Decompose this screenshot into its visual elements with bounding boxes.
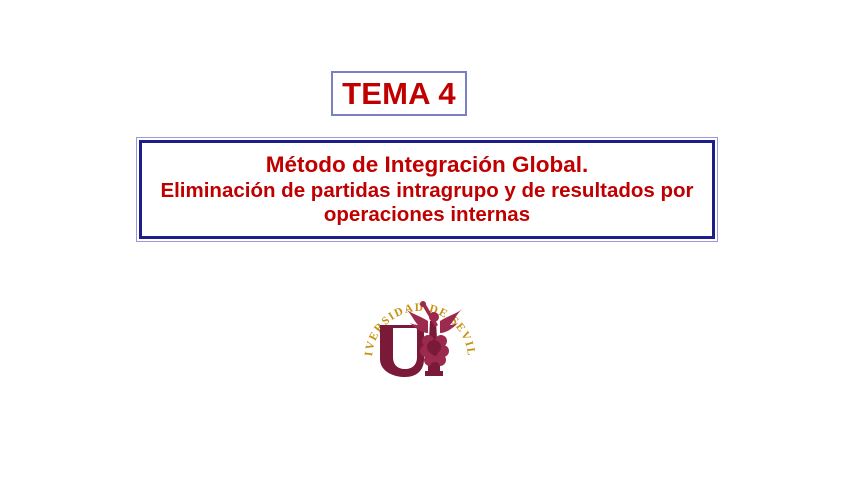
slide-title-line-2: Eliminación de partidas intragrupo y de … [160, 179, 693, 203]
slide-canvas: TEMA 4 Método de Integración Global. Eli… [0, 0, 848, 477]
slide-title-line-3: operaciones internas [324, 203, 530, 227]
chapter-number-label: TEMA 4 [342, 78, 456, 109]
slide-title-line-1: Método de Integración Global. [266, 152, 589, 178]
logo-graphic: UNIVERSIDAD DE SEVILLA [362, 281, 478, 387]
universidad-de-sevilla-logo: UNIVERSIDAD DE SEVILLA [362, 281, 478, 387]
slide-title-box: Método de Integración Global. Eliminació… [136, 137, 718, 242]
chapter-number-box: TEMA 4 [331, 71, 467, 116]
slide-title-box-inner: Método de Integración Global. Eliminació… [139, 140, 715, 239]
logo-letter-u [380, 325, 426, 377]
